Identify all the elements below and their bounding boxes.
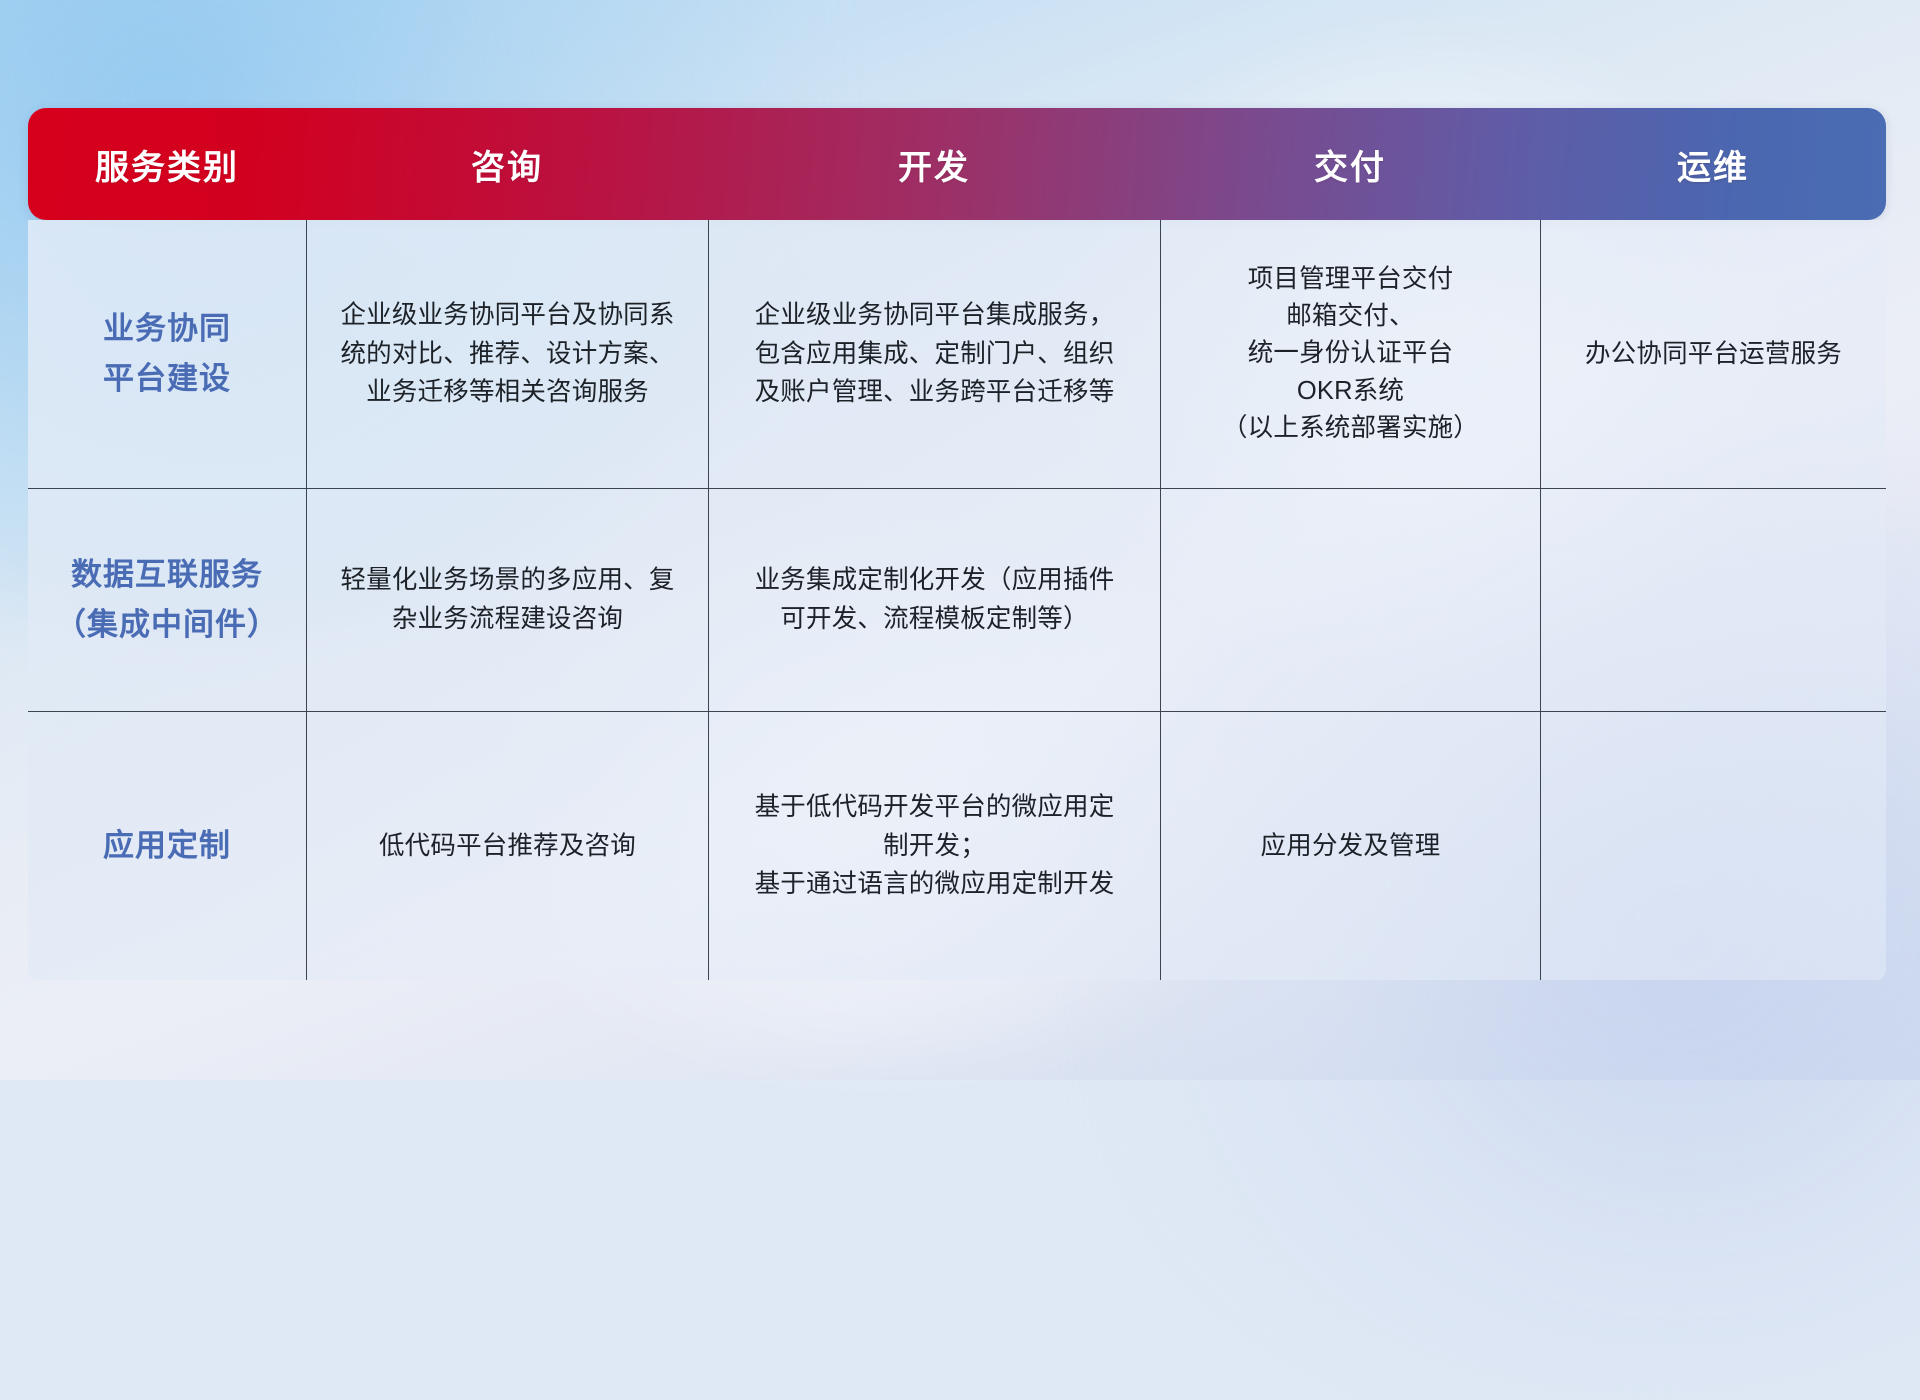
column-header-consulting: 咨询	[306, 108, 708, 220]
cell-development: 业务集成定制化开发（应用插件 可开发、流程模板定制等）	[708, 489, 1160, 711]
table-row: 业务协同 平台建设 企业级业务协同平台及协同系 统的对比、推荐、设计方案、 业务…	[28, 220, 1886, 488]
cell-text: 应用分发及管理	[1261, 827, 1441, 866]
cell-delivery: 应用分发及管理	[1160, 712, 1540, 980]
row-label-cell: 数据互联服务 （集成中间件）	[28, 489, 306, 711]
cell-text: 企业级业务协同平台及协同系 统的对比、推荐、设计方案、 业务迁移等相关咨询服务	[340, 296, 674, 412]
cell-consulting: 企业级业务协同平台及协同系 统的对比、推荐、设计方案、 业务迁移等相关咨询服务	[306, 220, 708, 488]
column-header-delivery: 交付	[1160, 108, 1540, 220]
cell-text: 低代码平台推荐及咨询	[379, 827, 636, 866]
cell-consulting: 轻量化业务场景的多应用、复 杂业务流程建设咨询	[306, 489, 708, 711]
row-label-text: 数据互联服务 （集成中间件）	[55, 550, 279, 650]
cell-text: 基于低代码开发平台的微应用定 制开发； 基于通过语言的微应用定制开发	[755, 788, 1115, 904]
column-header-development: 开发	[708, 108, 1160, 220]
column-header-service-category: 服务类别	[28, 108, 306, 220]
cell-text: 轻量化业务场景的多应用、复 杂业务流程建设咨询	[340, 561, 674, 639]
cell-development: 基于低代码开发平台的微应用定 制开发； 基于通过语言的微应用定制开发	[708, 712, 1160, 980]
column-header-operations: 运维	[1540, 108, 1886, 220]
row-label-cell: 应用定制	[28, 712, 306, 980]
row-label-text: 应用定制	[103, 821, 231, 871]
cell-text: 业务集成定制化开发（应用插件 可开发、流程模板定制等）	[755, 561, 1115, 639]
cell-operations: 办公协同平台运营服务	[1540, 220, 1886, 488]
cell-development: 企业级业务协同平台集成服务， 包含应用集成、定制门户、组织 及账户管理、业务跨平…	[708, 220, 1160, 488]
table-header-row: 服务类别 咨询 开发 交付 运维	[28, 108, 1886, 220]
table-row: 数据互联服务 （集成中间件） 轻量化业务场景的多应用、复 杂业务流程建设咨询 业…	[28, 488, 1886, 711]
cell-consulting: 低代码平台推荐及咨询	[306, 712, 708, 980]
row-label-text: 业务协同 平台建设	[103, 304, 231, 404]
service-matrix-table: 服务类别 咨询 开发 交付 运维 业务协同 平台建设 企业级业务协同平台及协同系…	[28, 108, 1886, 980]
row-label-cell: 业务协同 平台建设	[28, 220, 306, 488]
cell-delivery	[1160, 489, 1540, 711]
cell-text: 项目管理平台交付 邮箱交付、 统一身份认证平台 OKR系统 （以上系统部署实施）	[1222, 261, 1479, 447]
cell-text: 办公协同平台运营服务	[1585, 335, 1842, 374]
cell-operations	[1540, 489, 1886, 711]
table-body: 业务协同 平台建设 企业级业务协同平台及协同系 统的对比、推荐、设计方案、 业务…	[28, 220, 1886, 980]
table-row: 应用定制 低代码平台推荐及咨询 基于低代码开发平台的微应用定 制开发； 基于通过…	[28, 711, 1886, 980]
cell-text: 企业级业务协同平台集成服务， 包含应用集成、定制门户、组织 及账户管理、业务跨平…	[755, 296, 1115, 412]
cell-delivery: 项目管理平台交付 邮箱交付、 统一身份认证平台 OKR系统 （以上系统部署实施）	[1160, 220, 1540, 488]
cell-operations	[1540, 712, 1886, 980]
